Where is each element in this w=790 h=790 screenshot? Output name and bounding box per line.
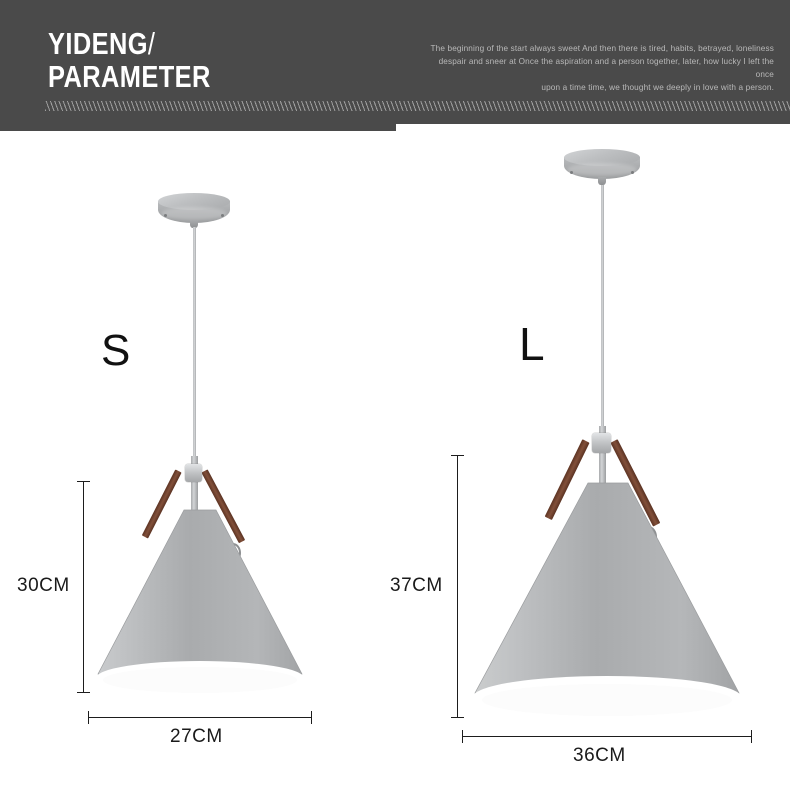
width-label-large: 36CM: [573, 745, 626, 767]
page-header: YIDENG/ PARAMETER The beginning of the s…: [0, 0, 790, 131]
title-brand: YIDENG: [48, 26, 148, 61]
paragraph-line-3: upon a time time, we thought we deeply i…: [429, 81, 774, 94]
height-tick-bottom-small: [77, 692, 90, 693]
lamp-shade-small-surface: [88, 508, 312, 696]
height-tick-top-small: [77, 481, 90, 482]
width-label-small: 27CM: [170, 726, 223, 748]
product-stage: S: [0, 131, 790, 790]
title-subject: PARAMETER: [48, 60, 327, 93]
canopy-screw-left: [164, 214, 167, 217]
height-dimension-line-large: [457, 455, 458, 718]
size-letter-small: S: [101, 326, 130, 376]
height-tick-bottom-large: [451, 717, 464, 718]
width-dimension-line-large: [462, 736, 752, 737]
canopy-highlight: [161, 207, 227, 220]
product-small-lamp: S: [0, 131, 395, 790]
hatch-stripe-divider: [45, 101, 790, 111]
canopy-cord-outlet: [598, 177, 606, 185]
canopy-screw-left: [570, 171, 573, 174]
height-label-large: 37CM: [390, 575, 443, 597]
product-large-lamp: L: [395, 131, 790, 790]
lamp-shade-large-surface: [462, 481, 752, 721]
paragraph-line-1: The beginning of the start always sweet …: [429, 42, 774, 55]
lamp-shade-small: [88, 508, 312, 696]
title-slash: /: [148, 26, 155, 61]
page-title: YIDENG/ PARAMETER: [48, 27, 327, 93]
canopy-small: [158, 193, 230, 229]
canopy-screw-right: [221, 214, 224, 217]
canopy-large: [564, 149, 640, 187]
size-letter-large: L: [519, 317, 545, 371]
height-tick-top-large: [451, 455, 464, 456]
width-dimension-line-small: [88, 717, 312, 718]
lamp-shade-large: [462, 481, 752, 721]
cord-large: [601, 185, 604, 441]
strap-clamp-small: [185, 464, 202, 482]
product-parameter-page: YIDENG/ PARAMETER The beginning of the s…: [0, 0, 790, 790]
strap-clamp-large: [592, 433, 611, 453]
height-label-small: 30CM: [17, 575, 70, 597]
paragraph-line-2: despair and sneer at Once the aspiration…: [429, 55, 774, 81]
height-dimension-line-small: [83, 481, 84, 693]
cord-small: [193, 227, 196, 469]
canopy-highlight: [567, 163, 637, 176]
width-tick-right-large: [751, 730, 752, 743]
width-tick-left-large: [462, 730, 463, 743]
header-paragraph: The beginning of the start always sweet …: [429, 42, 774, 94]
canopy-screw-right: [631, 171, 634, 174]
width-tick-left-small: [88, 711, 89, 724]
width-tick-right-small: [311, 711, 312, 724]
